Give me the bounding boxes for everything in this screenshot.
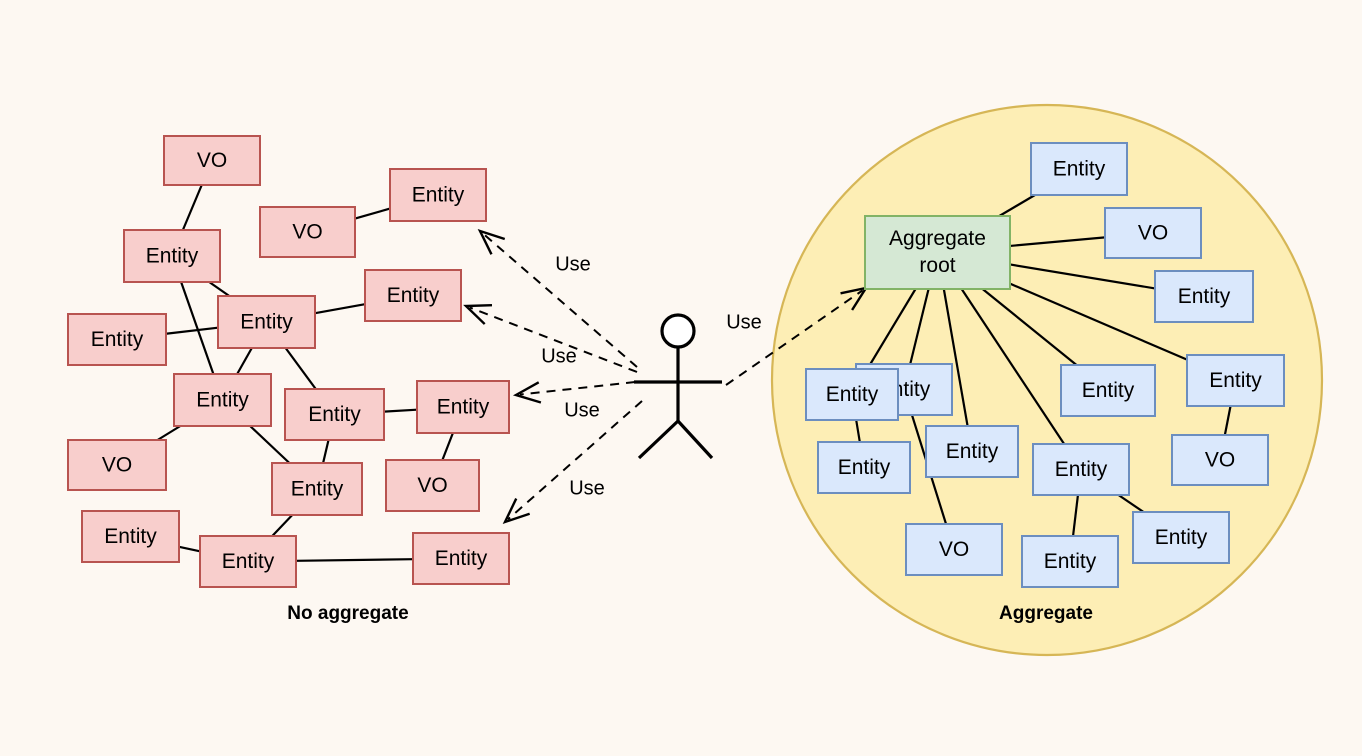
node-rect[interactable] — [82, 511, 179, 562]
node-r-vo-2[interactable]: VO — [1172, 435, 1268, 485]
node-rect[interactable] — [68, 440, 166, 490]
actor-head-icon — [662, 315, 694, 347]
node-rect[interactable] — [174, 374, 271, 426]
node-l-ent-9[interactable]: Entity — [272, 463, 362, 515]
node-r-ent-10[interactable]: Entity — [806, 369, 898, 420]
node-l-vo-2[interactable]: VO — [260, 207, 355, 257]
node-rect[interactable] — [365, 270, 461, 321]
node-rect[interactable] — [1031, 143, 1127, 195]
node-rect[interactable] — [390, 169, 486, 221]
aggregate-root-rect[interactable] — [865, 216, 1010, 289]
node-rect[interactable] — [164, 136, 260, 185]
node-rect[interactable] — [1133, 512, 1229, 563]
node-l-ent-4[interactable]: Entity — [218, 296, 315, 348]
node-r-ent-8[interactable]: Entity — [926, 426, 1018, 477]
node-l-ent-6[interactable]: Entity — [174, 374, 271, 426]
node-r-ent-4[interactable]: Entity — [1061, 365, 1155, 416]
use-3-label: Use — [564, 399, 600, 421]
node-l-ent-8[interactable]: Entity — [417, 381, 509, 433]
node-l-ent-3[interactable]: Entity — [365, 270, 461, 321]
node-l-vo-4[interactable]: VO — [386, 460, 479, 511]
aggregate-comparison-diagram: VOEntityVOEntityEntityEntityEntityEntity… — [0, 0, 1362, 756]
node-rect[interactable] — [417, 381, 509, 433]
use-5-label: Use — [726, 311, 762, 333]
node-rect[interactable] — [218, 296, 315, 348]
node-l-vo-3[interactable]: VO — [68, 440, 166, 490]
node-rect[interactable] — [200, 536, 296, 587]
use-4-label: Use — [569, 477, 605, 499]
aggregate-title: Aggregate — [999, 603, 1093, 624]
node-l-ent-5[interactable]: Entity — [68, 314, 166, 365]
node-rect[interactable] — [413, 533, 509, 584]
node-rect[interactable] — [1155, 271, 1253, 322]
node-rect[interactable] — [68, 314, 166, 365]
node-l-ent-11[interactable]: Entity — [200, 536, 296, 587]
node-rect[interactable] — [926, 426, 1018, 477]
diagram-canvas: VOEntityVOEntityEntityEntityEntityEntity… — [0, 0, 1362, 756]
node-rect[interactable] — [260, 207, 355, 257]
node-rect[interactable] — [1187, 355, 1284, 406]
node-rect[interactable] — [806, 369, 898, 420]
node-rect[interactable] — [1105, 208, 1201, 258]
node-r-ent-2[interactable]: Entity — [1155, 271, 1253, 322]
node-l-ent-7[interactable]: Entity — [285, 389, 384, 440]
no-aggregate-title: No aggregate — [287, 603, 408, 624]
node-rect[interactable] — [124, 230, 220, 282]
node-rect[interactable] — [285, 389, 384, 440]
node-l-ent-2[interactable]: Entity — [390, 169, 486, 221]
node-r-ent-7[interactable]: Entity — [1022, 536, 1118, 587]
node-rect[interactable] — [386, 460, 479, 511]
aggregate-root-node[interactable]: Aggregate root — [865, 216, 1010, 289]
node-rect[interactable] — [1172, 435, 1268, 485]
node-r-ent-3[interactable]: Entity — [1187, 355, 1284, 406]
use-1-label: Use — [555, 253, 591, 275]
node-l-vo-1[interactable]: VO — [164, 136, 260, 185]
node-l-ent-1[interactable]: Entity — [124, 230, 220, 282]
node-rect[interactable] — [272, 463, 362, 515]
node-rect[interactable] — [1033, 444, 1129, 495]
node-rect[interactable] — [1061, 365, 1155, 416]
node-rect[interactable] — [1022, 536, 1118, 587]
node-rect[interactable] — [906, 524, 1002, 575]
node-r-ent-11[interactable]: Entity — [818, 442, 910, 493]
node-l-ent-10[interactable]: Entity — [82, 511, 179, 562]
node-r-ent-6[interactable]: Entity — [1133, 512, 1229, 563]
node-rect[interactable] — [818, 442, 910, 493]
node-r-ent-5[interactable]: Entity — [1033, 444, 1129, 495]
use-2-label: Use — [541, 345, 577, 367]
node-r-vo-3[interactable]: VO — [906, 524, 1002, 575]
node-r-ent-1[interactable]: Entity — [1031, 143, 1127, 195]
node-l-ent-12[interactable]: Entity — [413, 533, 509, 584]
node-r-vo-1[interactable]: VO — [1105, 208, 1201, 258]
